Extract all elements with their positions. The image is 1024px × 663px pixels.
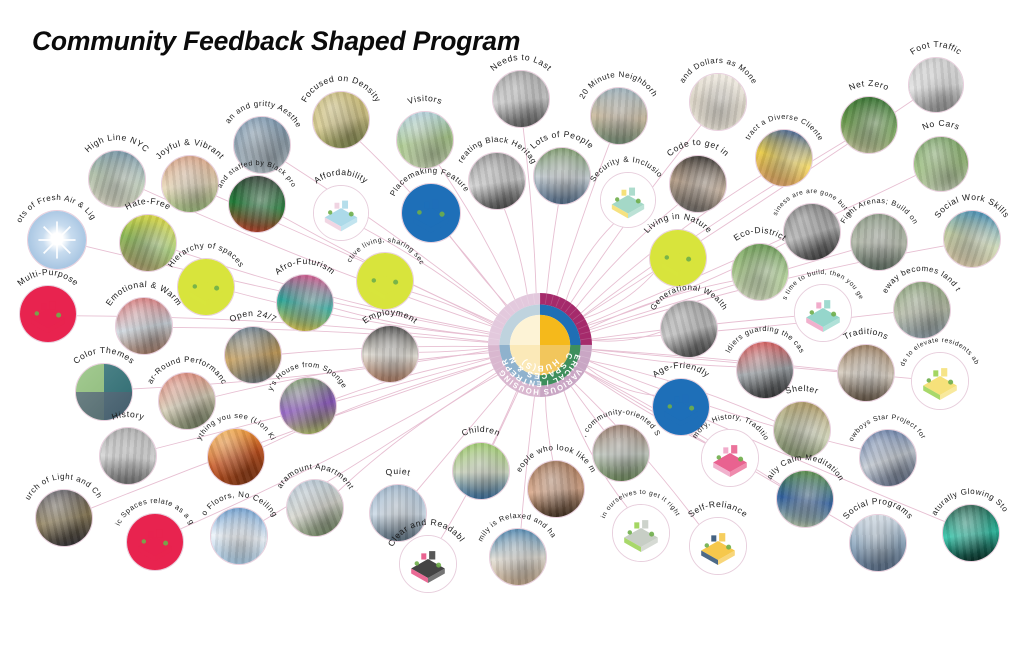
node-emotional-warm[interactable]: Emotional & Warm <box>115 297 173 355</box>
hub-graphic: HUB(S) PUBLIC SPACES & NATURE COMMERICAL… <box>484 289 596 401</box>
node-previous-business-gone[interactable]: Previous business are are gone but not f… <box>783 203 841 261</box>
node-everything-you-see-lion-king[interactable]: Everything you see (Lion King?) <box>207 428 265 486</box>
node-high-line-nyc[interactable]: High Line NYC <box>88 150 146 208</box>
node-image <box>396 111 454 169</box>
node-year-round-performances[interactable]: Year-Round Performances <box>158 372 216 430</box>
node-needs-to-last[interactable]: Needs to Last <box>492 70 550 128</box>
page-title: Community Feedback Shaped Program <box>32 26 520 57</box>
node-afro-futurism[interactable]: Afro-Futurism <box>276 274 334 332</box>
node-daily-calm-meditations[interactable]: Daily Calm Meditations <box>776 470 834 528</box>
node-image <box>913 136 969 192</box>
node-image <box>210 507 268 565</box>
node-people-who-look-like-me[interactable]: People who look like me <box>527 460 585 518</box>
node-image <box>755 129 813 187</box>
node-image <box>369 484 427 542</box>
node-image <box>689 517 747 575</box>
node-image <box>590 87 648 145</box>
node-children[interactable]: Children <box>452 442 510 500</box>
node-image <box>592 424 650 482</box>
node-multi-purpose[interactable]: Multi-Purpose <box>19 285 77 343</box>
node-image <box>849 514 907 572</box>
node-hate-free[interactable]: Hate-Free <box>119 214 177 272</box>
node-shelter[interactable]: Shelter <box>773 401 831 459</box>
node-image <box>736 341 794 399</box>
node-image <box>177 258 235 316</box>
node-living-in-nature[interactable]: Living in Nature <box>649 229 707 287</box>
node-security-inclusion[interactable]: Security & Inclusion <box>600 172 656 228</box>
node-image <box>527 460 585 518</box>
node-image <box>27 210 87 270</box>
node-social-work-skills[interactable]: Social Work Skills <box>943 210 1001 268</box>
node-image <box>612 504 670 562</box>
node-image <box>492 70 550 128</box>
node-social-programs[interactable]: Social Programs <box>849 514 907 572</box>
node-image <box>533 147 591 205</box>
mindmap-canvas: Community Feedback Shaped Program High L… <box>0 0 1024 663</box>
node-image <box>161 155 219 213</box>
node-1020-minute-neighborhood[interactable]: 10/20 Minute Neighborhood <box>590 87 648 145</box>
node-image <box>489 528 547 586</box>
node-paramount-apartments[interactable]: Paramount Apartments <box>286 479 344 537</box>
node-code-to-get-in[interactable]: Code to get in <box>669 155 727 213</box>
node-creating-black-heritage[interactable]: Creating Black Heritage <box>468 152 526 210</box>
node-memory-history-traditions[interactable]: Memory, History, Traditions <box>701 429 759 487</box>
node-lots-fresh-air-light[interactable]: Lots of Fresh Air & Light <box>27 210 87 270</box>
node-open-24-7[interactable]: Open 24/7 <box>224 326 282 384</box>
node-large-community-oriented-spaces[interactable]: Large, community-oriented Spaces <box>592 424 650 482</box>
node-image <box>893 281 951 339</box>
node-image <box>361 325 419 383</box>
hub-center[interactable]: HUB(S) PUBLIC SPACES & NATURE COMMERICAL… <box>484 289 596 401</box>
node-image <box>401 183 461 243</box>
node-color-themes[interactable]: Color Themes <box>75 363 133 421</box>
node-image <box>35 489 93 547</box>
node-image <box>840 96 898 154</box>
node-focused-on-density[interactable]: Focused on Density <box>312 91 370 149</box>
node-clear-and-readable[interactable]: Clear and Readable <box>399 535 457 593</box>
node-joyful-vibrant[interactable]: Joyful & Vibrant <box>161 155 219 213</box>
node-foot-traffic[interactable]: Foot Traffic <box>908 57 964 113</box>
node-image <box>399 535 457 593</box>
node-hierarchy-of-spaces[interactable]: Hierarchy of spaces <box>177 258 235 316</box>
node-net-zero[interactable]: Net Zero <box>840 96 898 154</box>
node-image <box>312 91 370 149</box>
node-image <box>649 229 707 287</box>
node-image <box>908 57 964 113</box>
node-dallas-cowboys-star-project[interactable]: Dallas Cowboys Star Project for students <box>859 429 917 487</box>
node-image <box>652 378 710 436</box>
node-image <box>276 274 334 332</box>
node-age-friendly[interactable]: Age-Friendly <box>652 378 710 436</box>
node-collective-living-sharing-security[interactable]: Collective living, sharing security <box>356 252 414 310</box>
node-image <box>356 252 414 310</box>
node-image <box>911 352 969 410</box>
node-image <box>942 504 1000 562</box>
node-visitors[interactable]: Visitors <box>396 111 454 169</box>
node-home-takes-time-homesick[interactable]: Home takes time to build, then you get h… <box>794 284 852 342</box>
node-sand-dollars-as-money[interactable]: Sand Dollars as Money <box>689 73 747 131</box>
node-image <box>207 428 265 486</box>
link-line <box>545 393 553 461</box>
node-image <box>452 442 510 500</box>
node-image <box>158 372 216 430</box>
node-no-floors-no-ceilings[interactable]: No Floors, No Ceilings <box>210 507 268 565</box>
node-public-spaces-relate-group[interactable]: public Spaces relate as a group <box>126 513 184 571</box>
node-eco-district[interactable]: Eco-District <box>731 243 789 301</box>
link-line <box>546 205 558 298</box>
node-image <box>75 363 133 421</box>
node-image <box>669 155 727 213</box>
node-no-cars[interactable]: No Cars <box>913 136 969 192</box>
node-history[interactable]: History <box>99 427 157 485</box>
node-family-relaxed-happy[interactable]: Family is Relaxed and happy <box>489 528 547 586</box>
node-image <box>313 185 369 241</box>
node-dont-constrain-ourselves[interactable]: Dont constrain ourselves to get it right… <box>612 504 670 562</box>
node-image <box>19 285 77 343</box>
node-employment[interactable]: Employment <box>361 325 419 383</box>
node-operated-staffed-black-professionals[interactable]: Operated and staffed by Black profession… <box>228 175 286 233</box>
node-attract-diverse-clientele[interactable]: Attract a Diverse Clientele <box>755 129 813 187</box>
node-tillys-house-spongebob[interactable]: Tilly's House from Spongebob <box>279 377 337 435</box>
node-freeway-land-trust[interactable]: Freeway becomes land trust <box>893 281 951 339</box>
node-placemaking-features[interactable]: Placemaking Features <box>401 183 461 243</box>
node-affordability[interactable]: Affordability <box>313 185 369 241</box>
node-image <box>468 152 526 210</box>
node-church-of-light-and-christ[interactable]: Church of Light and Christ <box>35 489 93 547</box>
node-image <box>228 175 286 233</box>
node-image <box>115 297 173 355</box>
node-image <box>850 213 908 271</box>
node-quiet[interactable]: Quiet <box>369 484 427 542</box>
node-image <box>773 401 831 459</box>
node-generational-wealth[interactable]: Generational Wealth <box>660 300 718 358</box>
node-image <box>88 150 146 208</box>
node-naturally-glowing-stone[interactable]: Naturally Glowing Stone <box>942 504 1000 562</box>
node-image <box>279 377 337 435</box>
node-image <box>776 470 834 528</box>
node-image <box>286 479 344 537</box>
node-soldiers-guarding-castle[interactable]: Soldiers guarding the castle <box>736 341 794 399</box>
node-image <box>600 172 656 228</box>
node-image <box>689 73 747 131</box>
node-safety-elevate-residents[interactable]: Safety needs to elevate residents above … <box>911 352 969 410</box>
node-dont-fight-arenas[interactable]: Don't Fight Arenas; Build on them <box>850 213 908 271</box>
node-image <box>660 300 718 358</box>
node-traditions[interactable]: Traditions <box>837 344 895 402</box>
node-image <box>224 326 282 384</box>
node-image <box>859 429 917 487</box>
node-image <box>943 210 1001 268</box>
node-self-reliance[interactable]: Self-Reliance <box>689 517 747 575</box>
node-image <box>119 214 177 272</box>
node-image <box>126 513 184 571</box>
node-image <box>731 243 789 301</box>
node-lots-of-people[interactable]: Lots of People <box>533 147 591 205</box>
node-image <box>233 116 291 174</box>
node-urban-gritty-aesthetic[interactable]: Urban and gritty Aesthetic <box>233 116 291 174</box>
node-image <box>783 203 841 261</box>
node-image <box>794 284 852 342</box>
node-image <box>701 429 759 487</box>
node-image <box>99 427 157 485</box>
node-image <box>837 344 895 402</box>
